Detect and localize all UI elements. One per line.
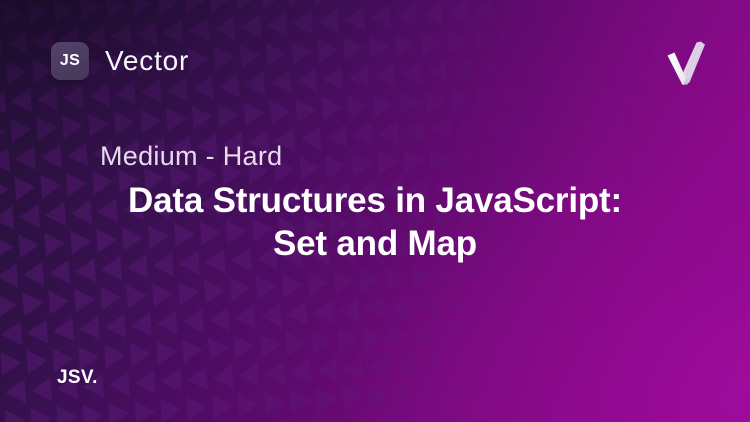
brand-header: JS Vector bbox=[51, 42, 189, 80]
page-title-line-1: Data Structures in JavaScript: bbox=[60, 180, 690, 223]
page-title: Data Structures in JavaScript: Set and M… bbox=[60, 180, 690, 265]
brand-name-label: Vector bbox=[105, 47, 189, 75]
v-checkmark-icon bbox=[662, 37, 708, 87]
page-title-line-2: Set and Map bbox=[60, 223, 690, 266]
footer-logo-label: JSV. bbox=[57, 367, 98, 389]
difficulty-label: Medium - Hard bbox=[100, 140, 690, 172]
js-logo-badge: JS bbox=[51, 42, 89, 80]
course-title-card: JS Vector bbox=[0, 0, 750, 422]
course-content-block: Medium - Hard Data Structures in JavaScr… bbox=[0, 140, 750, 266]
js-badge-label: JS bbox=[60, 53, 80, 69]
